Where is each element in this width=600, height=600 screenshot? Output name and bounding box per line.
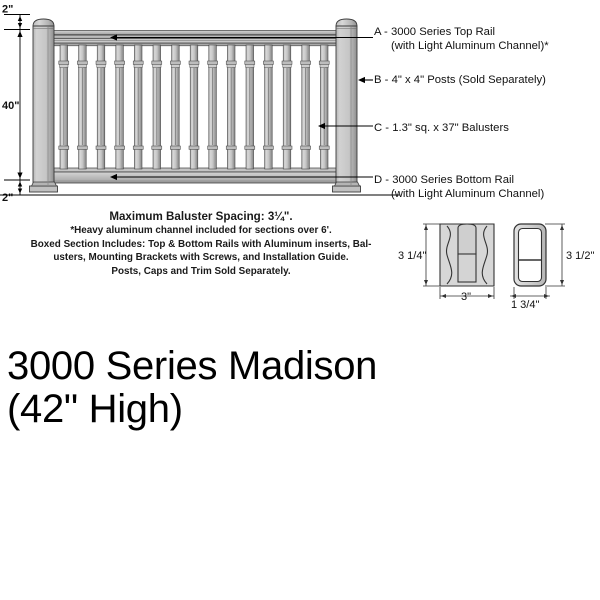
post-right [333,19,361,192]
notes-block: Maximum Baluster Spacing: 3¼". *Heavy al… [8,209,394,278]
callout-c-line1: C - 1.3" sq. x 37" Balusters [374,122,509,134]
callout-a: A - 3000 Series Top Rail (with Light Alu… [374,26,549,53]
railing-elevation-diagram: 2" 40" 2" [0,0,400,208]
callout-a-line2: (with Light Aluminum Channel)* [374,40,549,54]
callout-c: C - 1.3" sq. x 37" Balusters [374,122,509,136]
callout-d-line1: D - 3000 Series Bottom Rail [374,174,514,186]
note-sold-separately: Posts, Caps and Trim Sold Separately. [8,265,394,279]
callout-a-line1: A - 3000 Series Top Rail [374,26,495,38]
post-cap-left [33,19,54,26]
callout-d-line2: (with Light Aluminum Channel) [374,188,544,202]
post-cap-right [336,19,357,26]
product-title-line1: 3000 Series Madison [7,345,567,388]
top-rail [52,31,338,46]
baluster [96,45,106,169]
baluster-group [59,45,329,169]
top-rail-height-label: 3 1/4" [398,250,426,262]
dimension-bottom-label: 2" [2,192,13,204]
top-rail-cross-section: 3 1/4" 3" [398,224,494,303]
baluster [152,45,162,169]
post-left [30,19,58,192]
post-base-left [30,186,58,192]
note-boxed-section-2: usters, Mounting Brackets with Screws, a… [8,251,394,265]
dimension-height-label: 40" [2,100,19,112]
note-max-spacing: Maximum Baluster Spacing: 3¼". [8,209,394,224]
bottom-rail-height-label: 3 1/2" [566,250,594,262]
baluster [189,45,199,169]
post-base-right [333,186,361,192]
callout-b-line1: B - 4" x 4" Posts (Sold Separately) [374,74,546,86]
baluster [115,45,125,169]
baluster [133,45,143,169]
baluster [170,45,180,169]
baluster [282,45,292,169]
baluster [263,45,273,169]
baluster [245,45,255,169]
note-aluminum-channel: *Heavy aluminum channel included for sec… [8,224,394,238]
product-title-line2: (42" High) [7,388,567,431]
callout-b: B - 4" x 4" Posts (Sold Separately) [374,74,546,88]
cross-section-diagrams: 3 1/4" 3" 3 1/2" [398,216,598,326]
note-boxed-section-1: Boxed Section Includes: Top & Bottom Rai… [8,238,394,252]
baluster [301,45,311,169]
product-title: 3000 Series Madison (42" High) [7,345,567,431]
top-rail-width-label: 3" [461,291,471,303]
diagram-canvas: 2" 40" 2" [0,0,600,600]
bottom-rail-width-label: 1 3/4" [511,299,539,311]
baluster [208,45,218,169]
baluster [319,45,329,169]
bottom-rail [54,168,336,183]
callout-d: D - 3000 Series Bottom Rail (with Light … [374,174,544,201]
dimension-top-label: 2" [2,4,13,16]
leader-arrows [110,34,373,180]
baluster [226,45,236,169]
baluster [59,45,69,169]
bottom-rail-cross-section: 3 1/2" 1 3/4" [510,224,594,311]
baluster [77,45,87,169]
